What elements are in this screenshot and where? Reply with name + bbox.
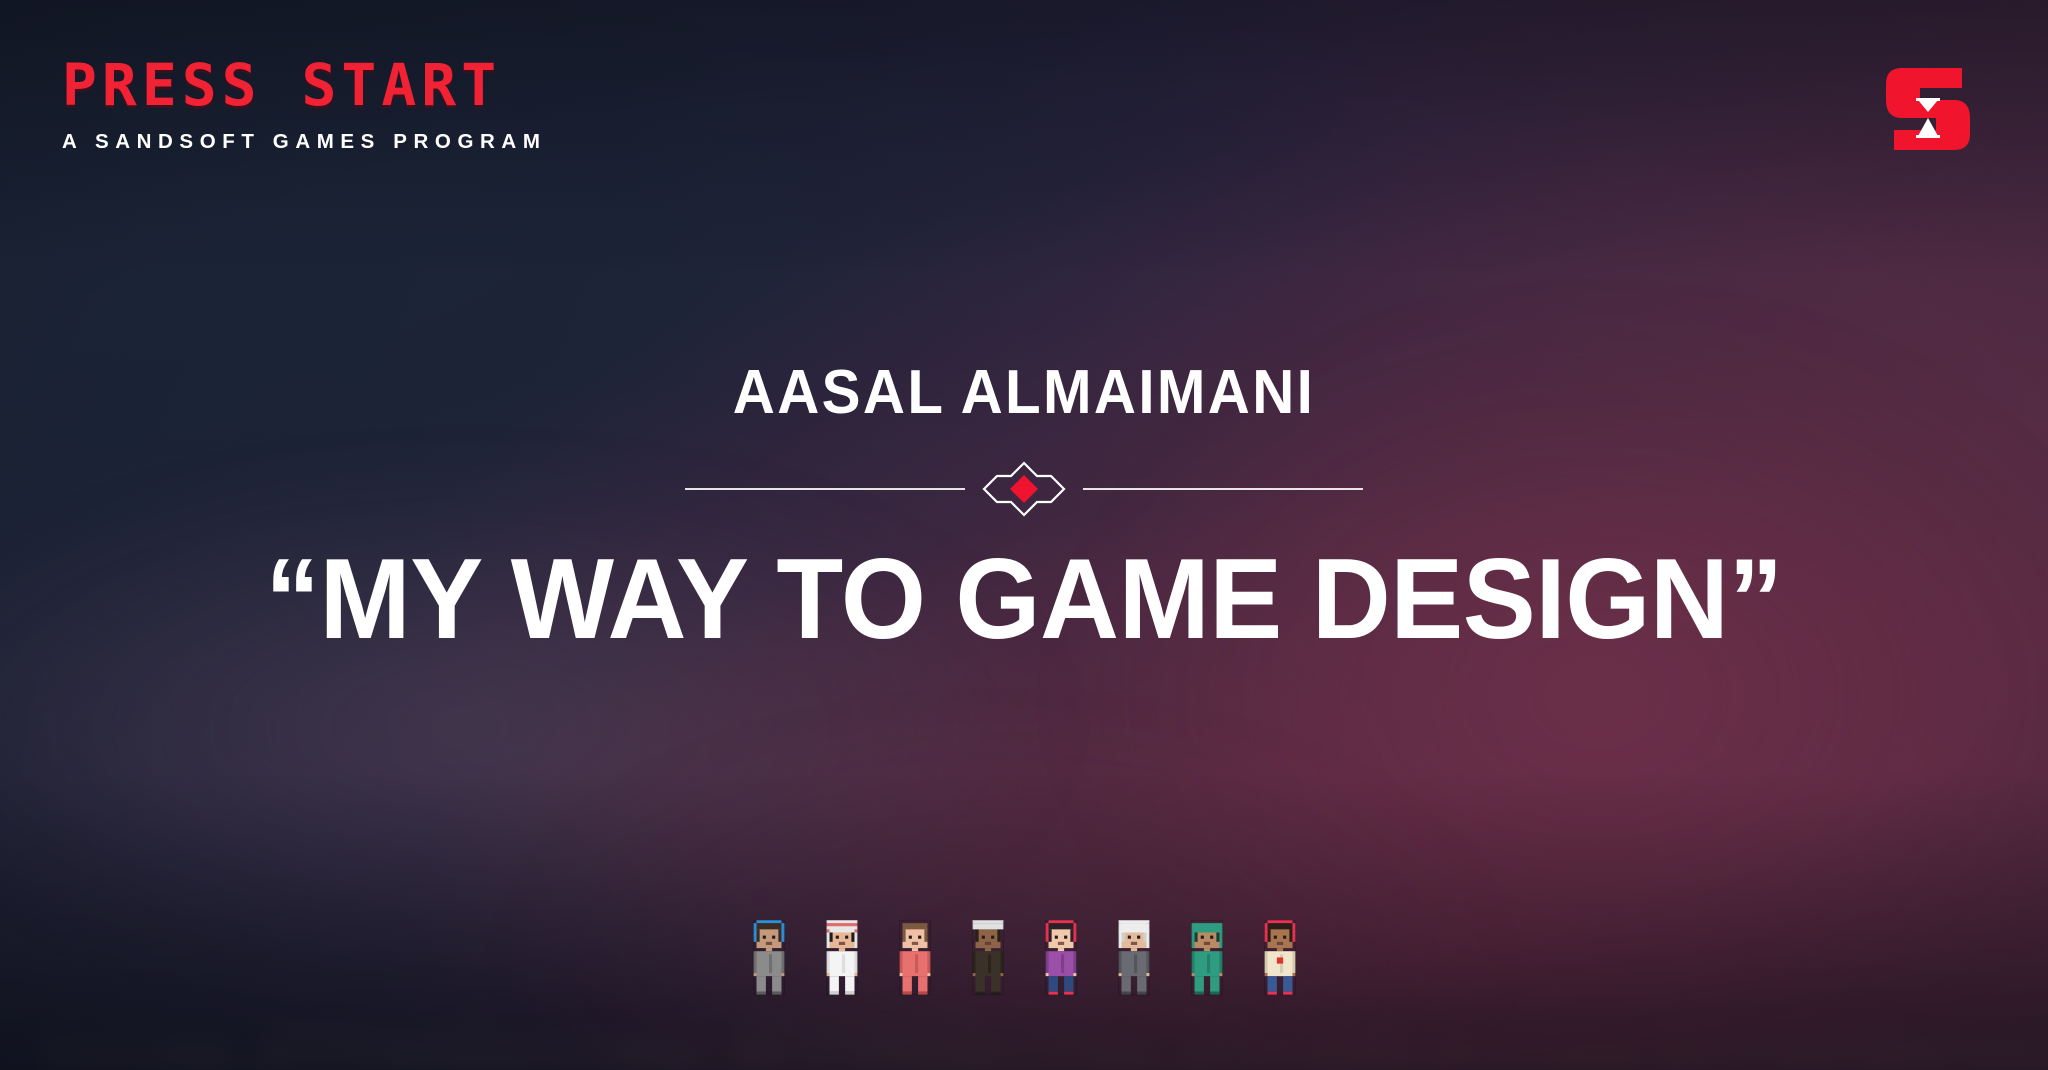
divider-line-right [1083, 488, 1363, 490]
avatar-brown-hair-pink-top [890, 920, 940, 998]
avatar-white-thobe-shemagh [817, 920, 867, 998]
brand-subtitle: A SANDSOFT GAMES PROGRAM [62, 130, 522, 154]
brand-block: PRESS START A SANDSOFT GAMES PROGRAM [62, 56, 522, 154]
sandsoft-logo [1884, 62, 1972, 154]
sandsoft-s-hourglass-icon [1884, 62, 1972, 154]
presentation-slide: PRESS START A SANDSOFT GAMES PROGRAM AAS… [0, 0, 2048, 1070]
avatar-row [0, 920, 2048, 998]
diamond-ornament-icon [981, 460, 1067, 518]
avatar-grey-thobe-white-ghutra [1109, 920, 1159, 998]
avatar-teal-hoodie [1182, 920, 1232, 998]
avatar-headphones-grey-thobe [744, 920, 794, 998]
divider-line-left [685, 488, 965, 490]
press-start-logo-text: PRESS START [62, 56, 522, 114]
avatar-dark-abaya-white-headwrap [963, 920, 1013, 998]
avatar-red-headphones-purple-hoodie [1036, 920, 1086, 998]
avatar-red-headphones-cream-hoodie [1255, 920, 1305, 998]
divider [0, 460, 2048, 518]
slide-center-content: AASAL ALMAIMANI “MY WAY TO GAME DESIGN” [0, 362, 2048, 660]
speaker-name: AASAL ALMAIMANI [61, 362, 1986, 424]
talk-title: “MY WAY TO GAME DESIGN” [41, 540, 2007, 660]
